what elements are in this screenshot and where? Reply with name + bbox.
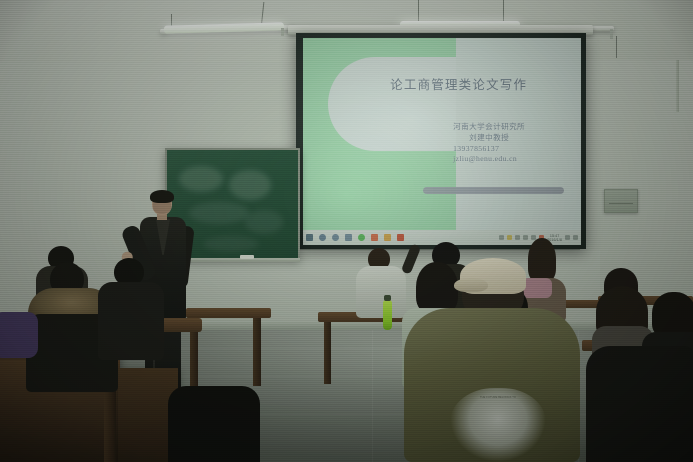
powerpoint-icon[interactable] xyxy=(397,234,404,241)
wall-conduit xyxy=(676,60,679,112)
lecturer-hair xyxy=(150,190,174,203)
slide-accent-bar xyxy=(423,187,565,194)
taskbar-pinned-icons[interactable] xyxy=(306,234,404,241)
slide-phone: 13937856137 xyxy=(453,144,525,155)
powerpoint-slide: 论工商管理类论文写作 河南大学会计研究所 刘建中教授 13937856137 j… xyxy=(303,38,581,230)
student-head xyxy=(528,238,556,282)
slide-institute: 河南大学会计研究所 xyxy=(453,122,525,133)
light-bracket-left xyxy=(281,28,284,36)
student-torso xyxy=(0,312,38,358)
task-view-icon[interactable] xyxy=(345,234,352,241)
file-explorer-icon[interactable] xyxy=(384,234,391,241)
browser-icon[interactable] xyxy=(371,234,378,241)
hanging-hook xyxy=(616,36,617,58)
cap-brim xyxy=(454,278,488,292)
student-torso xyxy=(586,346,693,462)
student-head xyxy=(416,262,458,314)
student-torso xyxy=(168,386,260,462)
desk-leg xyxy=(324,322,331,384)
classroom-photo: 论工商管理类论文写作 河南大学会计研究所 刘建中教授 13937856137 j… xyxy=(0,0,693,462)
jacket-skull-graphic xyxy=(450,388,546,462)
search-icon[interactable] xyxy=(319,234,326,241)
network-icon[interactable] xyxy=(523,235,528,240)
student-torso xyxy=(356,266,406,318)
battery-icon[interactable] xyxy=(515,235,520,240)
windows-start-icon[interactable] xyxy=(306,234,313,241)
desk-leg xyxy=(253,318,261,386)
notifications-icon[interactable] xyxy=(565,235,570,240)
shield-icon[interactable] xyxy=(507,235,512,240)
wechat-icon[interactable] xyxy=(358,234,365,241)
slide-email: jzliu@henu.edu.cn xyxy=(453,154,525,165)
show-desktop-icon[interactable] xyxy=(573,235,578,240)
cortana-icon[interactable] xyxy=(332,234,339,241)
slide-presenter-name: 刘建中教授 xyxy=(453,133,525,144)
student-scarf xyxy=(522,278,552,298)
green-water-bottle xyxy=(383,300,392,330)
student-torso xyxy=(98,282,164,360)
slide-title: 论工商管理类论文写作 xyxy=(303,74,575,93)
slide-contact-block: 河南大学会计研究所 刘建中教授 13937856137 jzliu@henu.e… xyxy=(453,122,525,164)
projection-screen: 论工商管理类论文写作 河南大学会计研究所 刘建中教授 13937856137 j… xyxy=(296,33,586,249)
bottle-cap xyxy=(384,295,391,301)
jacket-print-text: THE FUTURE BELONGS TO xyxy=(456,396,540,399)
wall-control-panel[interactable] xyxy=(604,189,638,213)
light-bracket-right xyxy=(610,29,613,39)
chevron-up-icon[interactable] xyxy=(499,235,504,240)
desk-row-front-left xyxy=(186,308,271,318)
blackboard-eraser xyxy=(240,255,254,259)
